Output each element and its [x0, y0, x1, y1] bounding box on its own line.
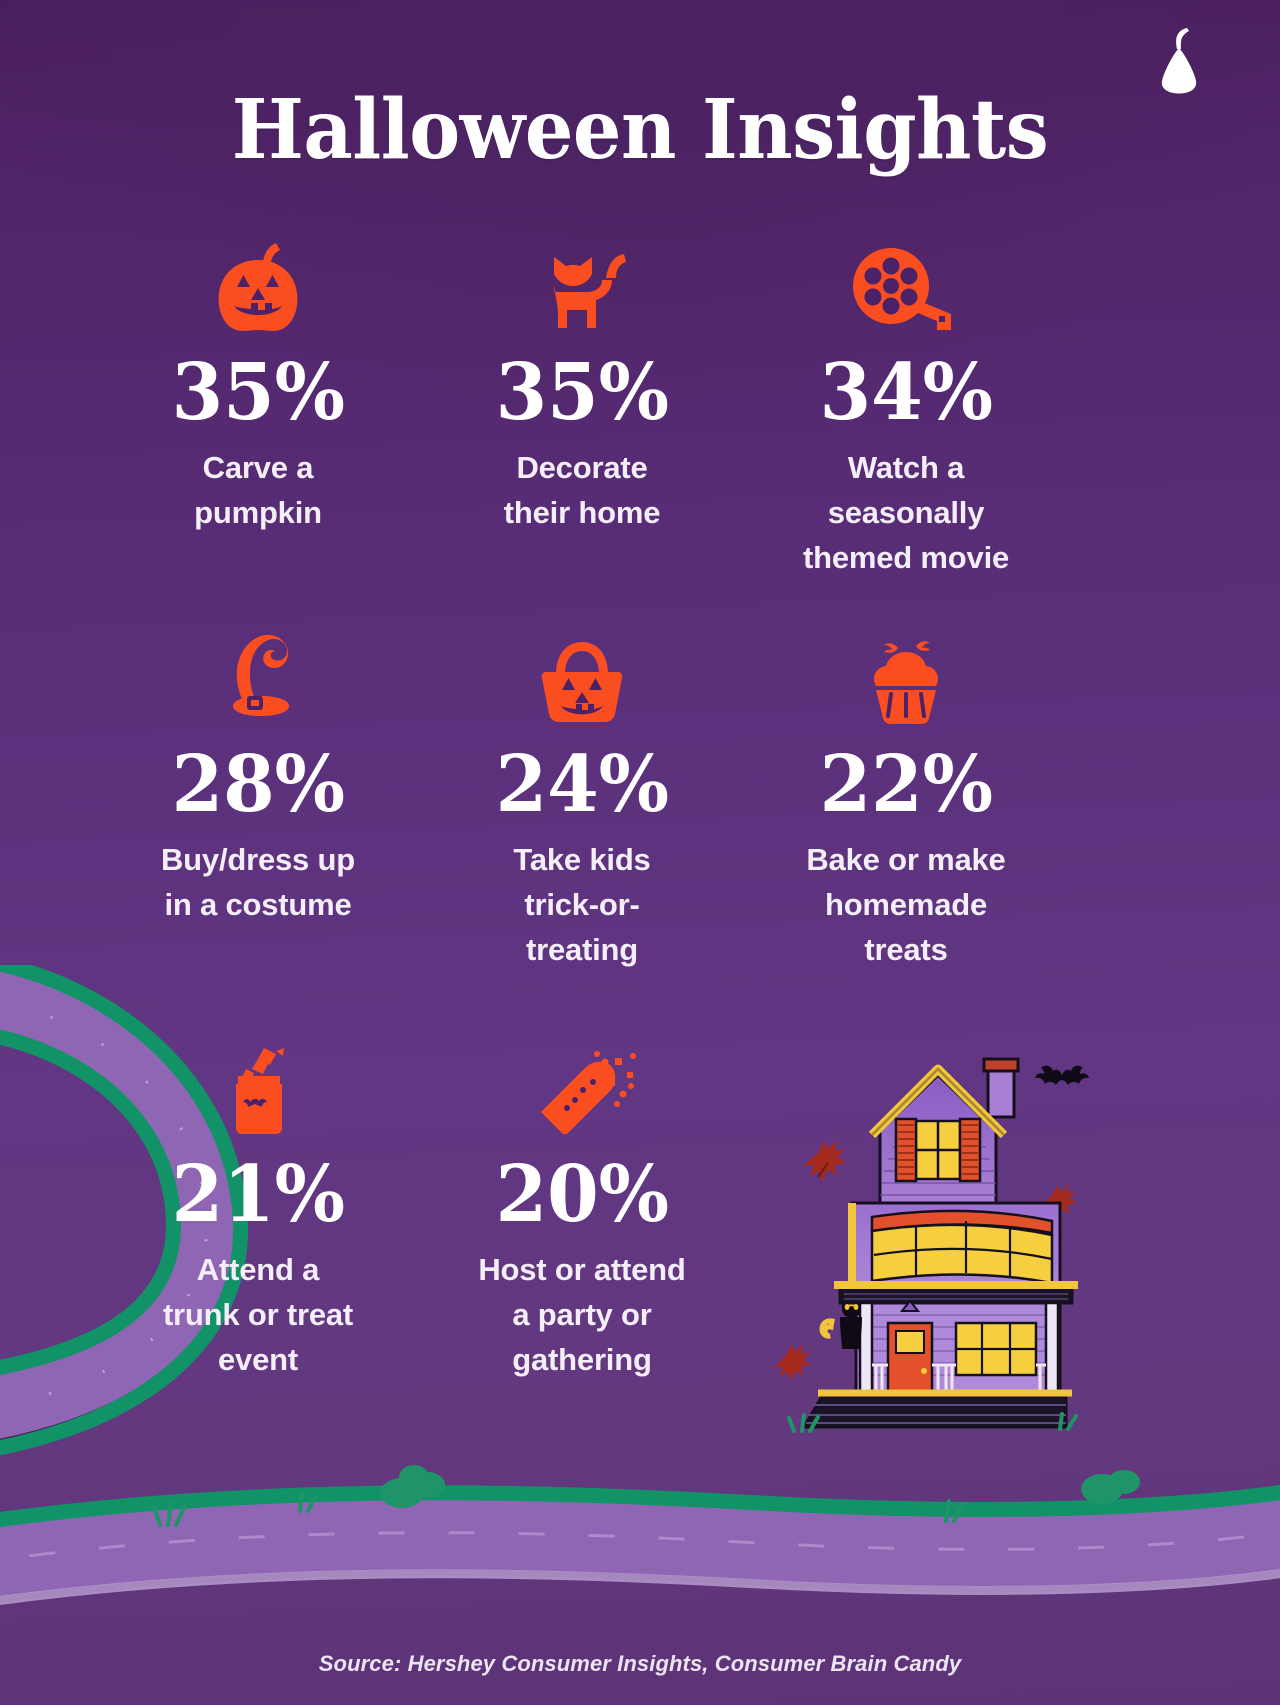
- halloween-insights-infographic: Halloween Insights 35% Carve apumpkin: [0, 0, 1280, 1705]
- stat-percent: 34%: [819, 354, 993, 432]
- stat-label: Bake or makehomemadetreats: [806, 838, 1005, 973]
- stat-card-bake-or-make-homemade-treats: 22% Bake or makehomemadetreats: [744, 628, 1068, 1038]
- stat-percent: 22%: [819, 746, 993, 824]
- stats-row: 35% Carve apumpkin 35% Decoratetheir hom…: [96, 236, 1186, 628]
- witch-hat-icon: [203, 628, 313, 724]
- haunted-house-illustration: [760, 1035, 1090, 1435]
- stat-percent: 28%: [171, 746, 345, 824]
- stat-label: Watch aseasonallythemed movie: [803, 446, 1009, 581]
- candy-pail-icon: [530, 628, 634, 724]
- film-reel-icon: [847, 236, 965, 332]
- party-popper-icon: [523, 1038, 641, 1134]
- stat-card-carve-a-pumpkin: 35% Carve apumpkin: [96, 236, 420, 628]
- stat-card-host-or-attend-a-party: 20% Host or attenda party orgathering: [420, 1038, 744, 1408]
- jack-o-lantern-icon: [206, 236, 310, 332]
- stat-percent: 20%: [495, 1156, 669, 1234]
- stat-card-decorate-their-home: 35% Decoratetheir home: [420, 236, 744, 628]
- black-cat-icon: [530, 236, 634, 332]
- cupcake-icon: [854, 628, 958, 724]
- stat-label: Attend atrunk or treatevent: [163, 1248, 353, 1383]
- stat-percent: 24%: [495, 746, 669, 824]
- stat-card-attend-a-trunk-or-treat-event: 21% Attend atrunk or treatevent: [96, 1038, 420, 1408]
- source-credit: Source: Hershey Consumer Insights, Consu…: [0, 1651, 1280, 1677]
- stats-row: 28% Buy/dress upin a costume 24% Take ki…: [96, 628, 1186, 1038]
- stat-card-take-kids-trick-or-treating: 24% Take kidstrick-or-treating: [420, 628, 744, 1038]
- stat-percent: 21%: [171, 1156, 345, 1234]
- maple-leaf-icon: [803, 1140, 846, 1182]
- stat-card-buy-dress-up-in-a-costume: 28% Buy/dress upin a costume: [96, 628, 420, 1038]
- stat-label: Host or attenda party orgathering: [478, 1248, 685, 1383]
- black-cat-on-porch-icon: [822, 1301, 862, 1349]
- stat-percent: 35%: [495, 354, 669, 432]
- page-title: Halloween Insights: [45, 82, 1235, 178]
- stat-card-watch-a-seasonally-themed-movie: 34% Watch aseasonallythemed movie: [744, 236, 1068, 628]
- stat-label: Decoratetheir home: [504, 446, 660, 536]
- stat-label: Carve apumpkin: [194, 446, 322, 536]
- treat-bag-bat-icon: [206, 1038, 310, 1134]
- stat-label: Buy/dress upin a costume: [161, 838, 355, 928]
- stat-label: Take kidstrick-or-treating: [513, 838, 650, 973]
- maple-leaf-icon: [774, 1344, 811, 1381]
- stat-percent: 35%: [171, 354, 345, 432]
